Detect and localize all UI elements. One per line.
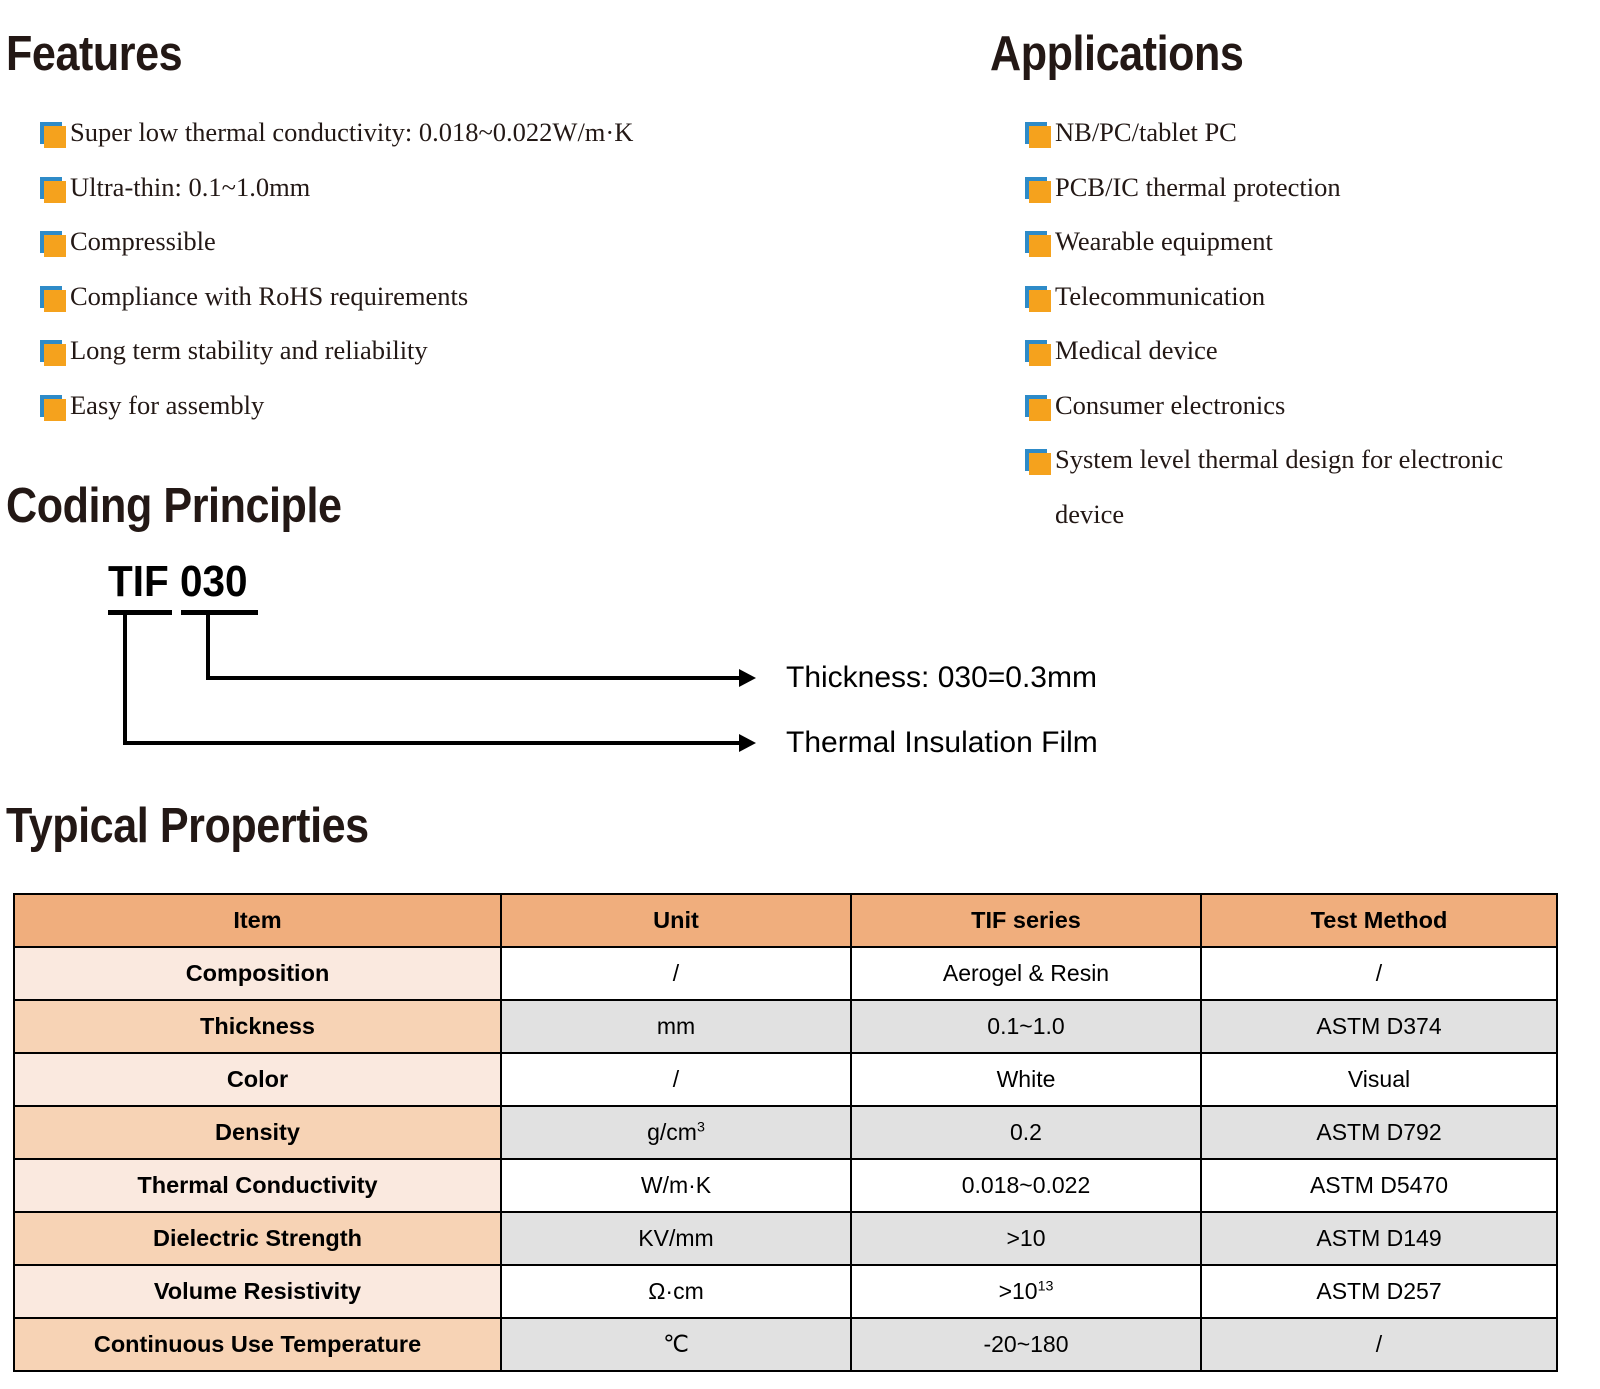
bullet-square-icon (1025, 395, 1051, 421)
applications-heading: Applications (990, 30, 1243, 79)
list-item: Compliance with RoHS requirements (0, 269, 900, 324)
list-item-label: System level thermal design for electron… (1055, 444, 1503, 529)
bullet-square-icon (40, 177, 66, 203)
features-heading: Features (6, 30, 182, 79)
list-item-label: NB/PC/tablet PC (1055, 117, 1237, 147)
list-item-label: Compliance with RoHS requirements (70, 281, 468, 311)
bullet-square-icon (40, 340, 66, 366)
cell-series-text: >10 (999, 1278, 1038, 1304)
cell-item: Color (14, 1053, 501, 1106)
film-leader-vertical (123, 614, 127, 745)
cell-method: ASTM D257 (1201, 1265, 1557, 1318)
list-item-label: Compressible (70, 226, 216, 256)
list-item: Medical device (985, 323, 1545, 378)
list-item: Super low thermal conductivity: 0.018~0.… (0, 105, 900, 160)
column-header-series: TIF series (851, 894, 1201, 947)
bullet-square-icon (1025, 286, 1051, 312)
bullet-square-icon (1025, 122, 1051, 148)
code-suffix-underline (181, 610, 258, 615)
film-label: Thermal Insulation Film (786, 728, 1098, 758)
cell-method: ASTM D149 (1201, 1212, 1557, 1265)
cell-unit: / (501, 1053, 851, 1106)
code-suffix-text: 030 (180, 560, 248, 604)
cell-series: 0.018~0.022 (851, 1159, 1201, 1212)
thickness-leader-vertical (206, 614, 210, 680)
cell-series: White (851, 1053, 1201, 1106)
cell-item: Thickness (14, 1000, 501, 1053)
code-prefix-text: TIF (108, 560, 169, 604)
cell-method: Visual (1201, 1053, 1557, 1106)
list-item-label: Wearable equipment (1055, 226, 1273, 256)
list-item-label: Telecommunication (1055, 281, 1265, 311)
list-item-label: PCB/IC thermal protection (1055, 172, 1341, 202)
film-leader-horizontal (123, 741, 740, 745)
cell-item: Density (14, 1106, 501, 1159)
list-item: Wearable equipment (985, 214, 1545, 269)
list-item: Long term stability and reliability (0, 323, 900, 378)
cell-unit: Ω·cm (501, 1265, 851, 1318)
typical-properties-table: Item Unit TIF series Test Method Composi… (13, 893, 1558, 1372)
cell-method: ASTM D374 (1201, 1000, 1557, 1053)
list-item-label: Ultra-thin: 0.1~1.0mm (70, 172, 310, 202)
list-item-label: Long term stability and reliability (70, 335, 428, 365)
list-item: Consumer electronics (985, 378, 1545, 433)
cell-item: Dielectric Strength (14, 1212, 501, 1265)
cell-series: Aerogel & Resin (851, 947, 1201, 1000)
table-row: Composition / Aerogel & Resin / (14, 947, 1557, 1000)
column-header-unit: Unit (501, 894, 851, 947)
list-item: NB/PC/tablet PC (985, 105, 1545, 160)
bullet-square-icon (40, 122, 66, 148)
list-item: Easy for assembly (0, 378, 900, 433)
cell-unit-superscript: 3 (697, 1119, 705, 1135)
list-item: Ultra-thin: 0.1~1.0mm (0, 160, 900, 215)
table-row: Volume Resistivity Ω·cm >1013 ASTM D257 (14, 1265, 1557, 1318)
cell-method: ASTM D5470 (1201, 1159, 1557, 1212)
bullet-square-icon (1025, 231, 1051, 257)
cell-series: >10 (851, 1212, 1201, 1265)
cell-series-superscript: 13 (1038, 1278, 1054, 1294)
cell-unit: mm (501, 1000, 851, 1053)
cell-series: 0.2 (851, 1106, 1201, 1159)
cell-unit: ℃ (501, 1318, 851, 1371)
cell-unit: W/m·K (501, 1159, 851, 1212)
bullet-square-icon (1025, 449, 1051, 475)
table-row: Thermal Conductivity W/m·K 0.018~0.022 A… (14, 1159, 1557, 1212)
code-prefix-underline (108, 610, 172, 615)
cell-unit: g/cm3 (501, 1106, 851, 1159)
applications-list: NB/PC/tablet PC PCB/IC thermal protectio… (985, 105, 1545, 541)
column-header-method: Test Method (1201, 894, 1557, 947)
list-item-label: Consumer electronics (1055, 390, 1285, 420)
list-item-label: Easy for assembly (70, 390, 264, 420)
cell-item: Volume Resistivity (14, 1265, 501, 1318)
table-row: Dielectric Strength KV/mm >10 ASTM D149 (14, 1212, 1557, 1265)
cell-unit: KV/mm (501, 1212, 851, 1265)
list-item: System level thermal design for electron… (985, 432, 1545, 541)
cell-method: / (1201, 1318, 1557, 1371)
cell-series: -20~180 (851, 1318, 1201, 1371)
bullet-square-icon (40, 395, 66, 421)
cell-method: ASTM D792 (1201, 1106, 1557, 1159)
cell-item: Continuous Use Temperature (14, 1318, 501, 1371)
cell-item: Thermal Conductivity (14, 1159, 501, 1212)
bullet-square-icon (40, 231, 66, 257)
list-item: PCB/IC thermal protection (985, 160, 1545, 215)
coding-principle-heading: Coding Principle (6, 482, 342, 531)
table-row: Density g/cm3 0.2 ASTM D792 (14, 1106, 1557, 1159)
bullet-square-icon (1025, 340, 1051, 366)
table-row: Thickness mm 0.1~1.0 ASTM D374 (14, 1000, 1557, 1053)
list-item-label: Super low thermal conductivity: 0.018~0.… (70, 117, 633, 147)
list-item: Telecommunication (985, 269, 1545, 324)
cell-method: / (1201, 947, 1557, 1000)
cell-unit-text: g/cm (647, 1119, 697, 1145)
cell-item: Composition (14, 947, 501, 1000)
thickness-leader-horizontal (206, 676, 740, 680)
film-arrow-icon (739, 734, 756, 752)
bullet-square-icon (1025, 177, 1051, 203)
cell-series: >1013 (851, 1265, 1201, 1318)
table-header-row: Item Unit TIF series Test Method (14, 894, 1557, 947)
list-item: Compressible (0, 214, 900, 269)
column-header-item: Item (14, 894, 501, 947)
typical-properties-heading: Typical Properties (6, 802, 369, 851)
table-row: Continuous Use Temperature ℃ -20~180 / (14, 1318, 1557, 1371)
cell-unit: / (501, 947, 851, 1000)
features-list: Super low thermal conductivity: 0.018~0.… (0, 105, 900, 432)
table-row: Color / White Visual (14, 1053, 1557, 1106)
list-item-label: Medical device (1055, 335, 1218, 365)
cell-series: 0.1~1.0 (851, 1000, 1201, 1053)
thickness-label: Thickness: 030=0.3mm (786, 663, 1097, 693)
thickness-arrow-icon (739, 669, 756, 687)
bullet-square-icon (40, 286, 66, 312)
coding-principle-diagram: TIF 030 Thickness: 030=0.3mm Thermal Ins… (0, 548, 1300, 788)
